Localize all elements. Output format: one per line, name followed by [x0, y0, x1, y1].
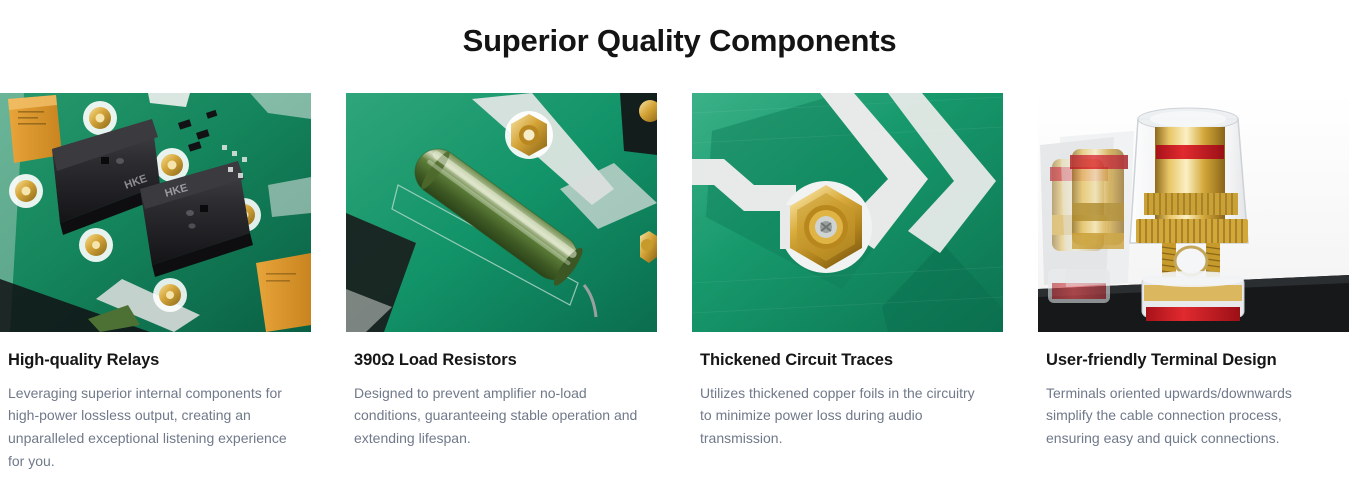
feature-card-relays[interactable]: HKE HKE: [0, 93, 311, 472]
card-description: Designed to prevent amplifier no-load co…: [346, 382, 657, 450]
terminal-illustration: [1038, 93, 1349, 332]
page-title: Superior Quality Components: [0, 0, 1359, 59]
relays-illustration: HKE HKE: [0, 93, 311, 332]
circuit-traces-photo: [692, 93, 1003, 332]
relays-photo: HKE HKE: [0, 93, 311, 332]
load-resistor-illustration: [346, 93, 657, 332]
card-title: Thickened Circuit Traces: [692, 350, 1003, 371]
quality-components-section: Superior Quality Components: [0, 0, 1359, 490]
feature-card-circuit-traces[interactable]: Thickened Circuit Traces Utilizes thicke…: [692, 93, 1003, 472]
card-title: User-friendly Terminal Design: [1038, 350, 1349, 371]
card-description: Terminals oriented upwards/downwards sim…: [1038, 382, 1349, 450]
feature-card-terminal-design[interactable]: User-friendly Terminal Design Terminals …: [1038, 93, 1349, 472]
load-resistor-photo: [346, 93, 657, 332]
feature-card-load-resistors[interactable]: 390Ω Load Resistors Designed to prevent …: [346, 93, 657, 472]
feature-card-grid: HKE HKE: [0, 93, 1359, 472]
circuit-traces-illustration: [692, 93, 1003, 332]
card-description: Utilizes thickened copper foils in the c…: [692, 382, 1003, 450]
terminal-photo: [1038, 93, 1349, 332]
card-title: High-quality Relays: [0, 350, 311, 371]
card-description: Leveraging superior internal components …: [0, 382, 311, 473]
card-title: 390Ω Load Resistors: [346, 350, 657, 371]
